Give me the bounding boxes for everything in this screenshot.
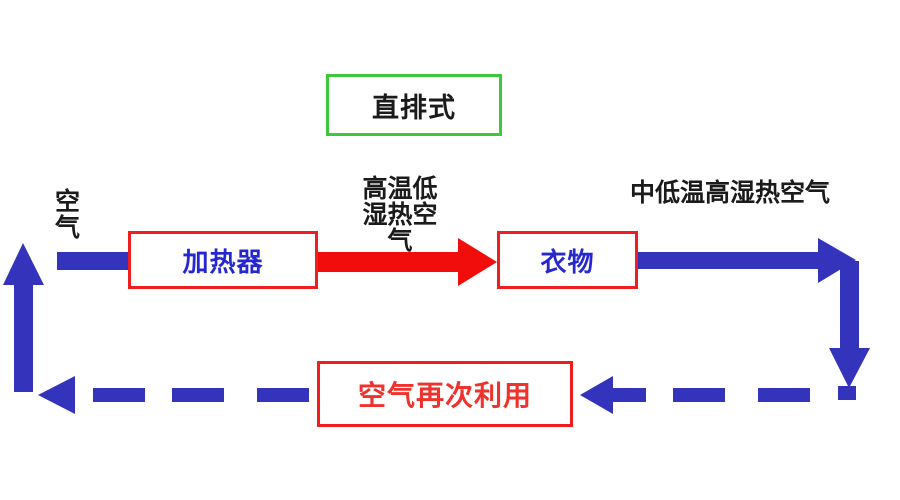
page-title: 直排式: [372, 86, 456, 125]
node-heater[interactable]: 加热器: [128, 231, 318, 289]
arrow-left-up: [3, 243, 44, 392]
node-clothes[interactable]: 衣物: [497, 231, 638, 289]
flow-label-hot-dry-air: 高温低 湿热空 气: [350, 176, 450, 254]
arrow-return-right-dashed: [580, 376, 856, 414]
diagram-title-box: 直排式: [326, 74, 502, 136]
flow-label-air-inlet: 空气: [55, 189, 81, 241]
node-air-reuse-label: 空气再次利用: [358, 374, 532, 414]
arrow-return-left-dashed: [38, 376, 309, 414]
arrow-right-down: [829, 261, 870, 388]
flow-label-warm-humid-air: 中低温高湿热空气: [630, 180, 830, 206]
node-air-reuse[interactable]: 空气再次利用: [317, 361, 573, 427]
diagram-canvas: 直排式 加热器 衣物 空气再次利用 空气 高温低 湿热空 气 中低温高湿热空气: [0, 0, 900, 500]
arrow-warm-humid-air: [638, 238, 856, 283]
node-clothes-label: 衣物: [540, 242, 594, 279]
node-heater-label: 加热器: [182, 242, 263, 279]
